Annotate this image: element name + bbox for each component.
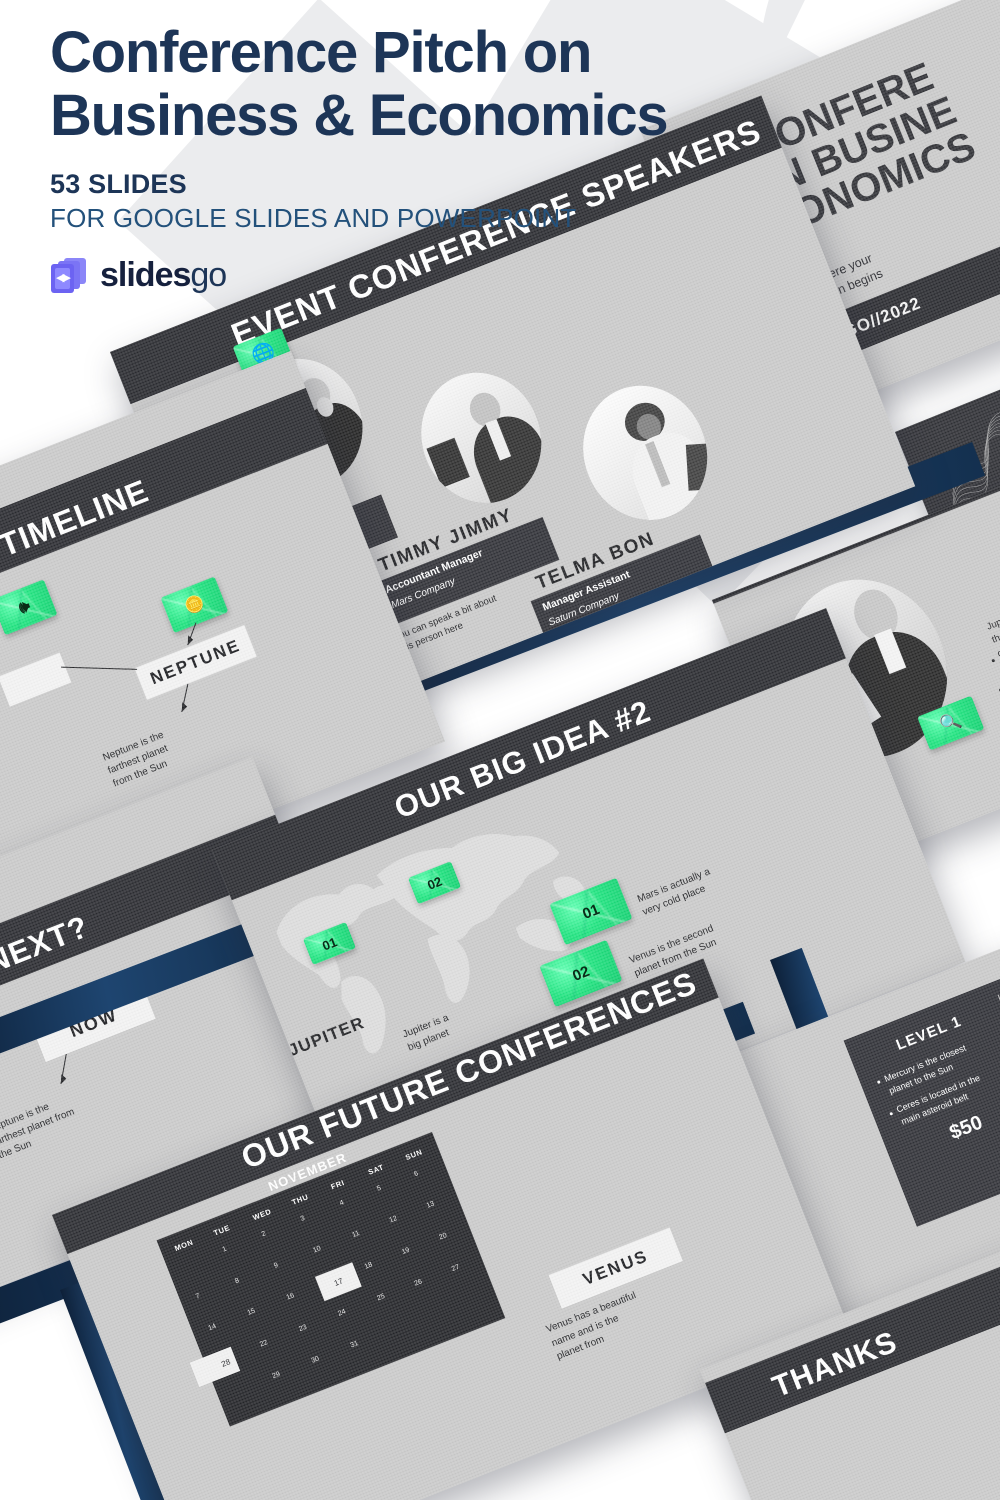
calendar-day[interactable]: 14 [207, 1323, 217, 1332]
slidesgo-logo[interactable]: ◀▶ slidesgo [50, 256, 850, 295]
calendar-day[interactable]: 1 [222, 1246, 228, 1254]
calendar-day[interactable]: 8 [234, 1277, 240, 1285]
calendar-day[interactable]: 27 [451, 1264, 461, 1273]
calendar-day[interactable]: 26 [413, 1278, 423, 1287]
calendar-day[interactable]: 25 [376, 1293, 386, 1302]
search-icon: 🔍 [937, 710, 964, 736]
poster-header: Conference Pitch on Business & Economics… [50, 22, 850, 295]
calendar-dow-mon: MON [173, 1238, 194, 1253]
calendar-day[interactable]: 31 [350, 1340, 360, 1349]
calendar-day[interactable]: 2 [261, 1230, 267, 1238]
timeline-icon-card-megaphone[interactable]: 🕪 [0, 579, 58, 635]
timeline-node-text: Neptune is the farthest planet from the … [101, 729, 176, 792]
calendar-day[interactable]: 23 [298, 1324, 308, 1333]
slide-count-label: 53 SLIDES [50, 169, 850, 200]
compatibility-label: FOR GOOGLE SLIDES AND POWERPOINT [50, 203, 850, 234]
calendar-day[interactable]: 11 [351, 1230, 360, 1239]
calendar-day[interactable]: 10 [312, 1245, 322, 1254]
calendar-dow-wed: WED [251, 1207, 272, 1222]
calendar-day[interactable]: 20 [438, 1232, 448, 1241]
calendar-day[interactable]: 13 [426, 1200, 436, 1209]
calendar-dow-fri: FRI [330, 1178, 346, 1191]
speaker-avatar-3[interactable] [564, 367, 727, 538]
calendar-dow-thu: THU [291, 1192, 310, 1207]
calendar-day[interactable]: 4 [339, 1199, 345, 1207]
poster-canvas: Conference Pitch on Business & Economics… [0, 0, 1000, 1500]
calendar-dow-sun: SUN [404, 1147, 424, 1162]
planet-facts-text: Jupit the Sola object in Saturn rings. I… [985, 545, 1000, 762]
calendar-day[interactable]: 29 [271, 1371, 281, 1380]
calendar-day[interactable]: 9 [273, 1262, 279, 1270]
whats-next-node-text: Neptune is the farthest planet from the … [0, 1093, 82, 1164]
calendar-day[interactable]: 7 [195, 1293, 201, 1301]
calendar-dow-tue: TUE [212, 1223, 231, 1238]
page-title: Conference Pitch on Business & Economics [50, 22, 850, 147]
coins-icon: 🪙 [181, 592, 207, 618]
calendar-day[interactable]: 12 [388, 1215, 398, 1224]
logo-wordmark: slidesgo [100, 256, 226, 295]
slidesgo-stack-icon: ◀▶ [50, 257, 90, 295]
calendar-day[interactable]: 6 [413, 1170, 419, 1178]
calendar-day[interactable]: 19 [401, 1247, 411, 1256]
calendar-day-highlighted[interactable]: 17 [315, 1262, 362, 1301]
megaphone-icon: 🕪 [16, 596, 33, 619]
calendar-day[interactable]: 3 [300, 1215, 306, 1223]
calendar-day[interactable]: 30 [310, 1355, 320, 1364]
calendar-dow-sat: SAT [367, 1162, 385, 1176]
calendar-day[interactable]: 16 [286, 1292, 296, 1301]
pricing-tier-1[interactable]: LEVEL 1 Mercury is the closest planet to… [853, 989, 1000, 1218]
timeline-connector [59, 634, 150, 706]
calendar-day[interactable]: 22 [259, 1339, 269, 1348]
big-idea-text-01: Mars is actually a very cold place [636, 866, 718, 920]
calendar-day[interactable]: 15 [246, 1308, 256, 1317]
calendar-day-highlighted[interactable]: 28 [190, 1347, 240, 1387]
speaker-avatar-2[interactable] [402, 355, 560, 521]
calendar-day[interactable]: 18 [364, 1261, 374, 1270]
calendar-day[interactable]: 24 [337, 1308, 347, 1317]
calendar-day[interactable]: 5 [376, 1185, 382, 1193]
